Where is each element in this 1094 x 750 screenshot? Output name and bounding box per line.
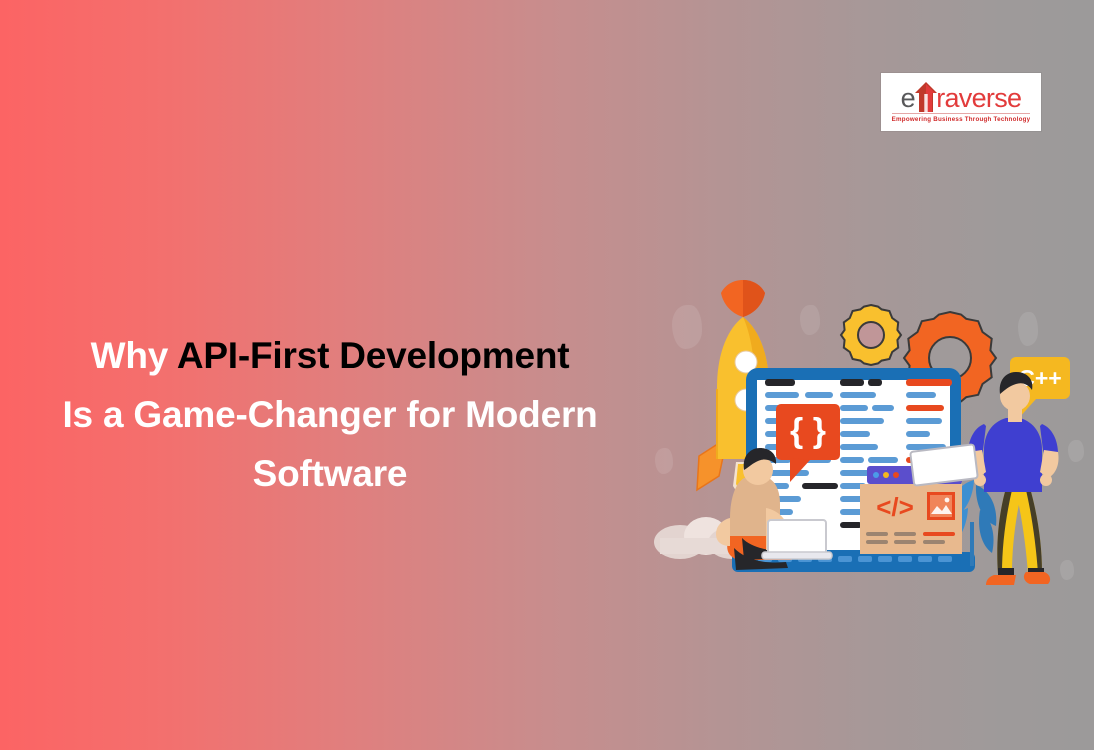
svg-text:{ }: { } — [790, 412, 826, 450]
headline-plain-text: Why — [91, 335, 177, 376]
banner: e raverse Empowering Business Through Te… — [0, 0, 1094, 750]
headline-line-3: Software — [20, 444, 640, 503]
headline-line-2: Is a Game-Changer for Modern — [20, 385, 640, 444]
brand-logo[interactable]: e raverse Empowering Business Through Te… — [881, 73, 1041, 131]
headline-accent-text: API-First Development — [177, 335, 570, 376]
logo-suffix-text: raverse — [936, 85, 1021, 112]
svg-text:</>: </> — [876, 492, 914, 522]
arrow-up-building-icon — [915, 82, 937, 112]
logo-wordmark: e raverse — [901, 81, 1022, 111]
logo-tagline: Empowering Business Through Technology — [892, 113, 1031, 123]
page-title: Why API-First Development Is a Game-Chan… — [20, 326, 640, 503]
headline-line-1: Why API-First Development — [20, 326, 640, 385]
logo-prefix-text: e — [901, 85, 916, 112]
gear-small-icon — [841, 305, 901, 365]
api-first-development-illustration: { } C++ — [650, 280, 1094, 600]
